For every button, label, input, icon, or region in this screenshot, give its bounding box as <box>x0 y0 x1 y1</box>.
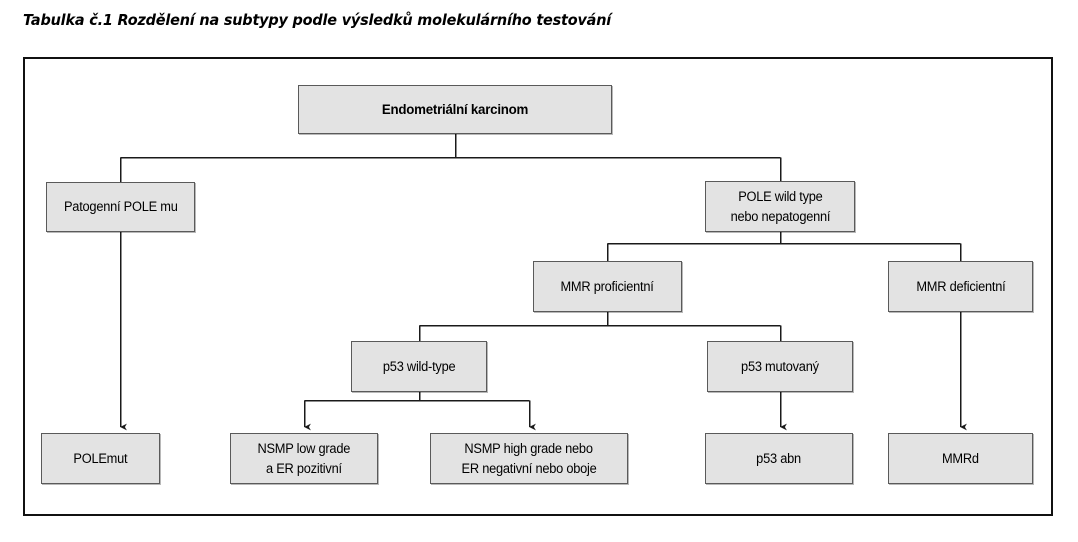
node-label-line2: a ER pozitivní <box>266 459 342 479</box>
figure-caption: Tabulka č.1 Rozdělení na subtypy podle v… <box>23 11 611 29</box>
diagram-page: Tabulka č.1 Rozdělení na subtypy podle v… <box>0 0 1078 542</box>
node-polemut[interactable]: POLEmut <box>41 433 160 484</box>
node-p53-mutovany[interactable]: p53 mutovaný <box>707 341 853 392</box>
node-label-line1: POLE wild type <box>738 187 822 207</box>
node-mmrd[interactable]: MMRd <box>888 433 1033 484</box>
node-mmr-proficientni[interactable]: MMR proficientní <box>533 261 682 312</box>
node-label: Patogenní POLE mu <box>64 197 178 217</box>
node-p53-wild-type[interactable]: p53 wild-type <box>351 341 487 392</box>
node-label: MMR proficientní <box>561 277 654 297</box>
node-label-line1: NSMP high grade nebo <box>465 439 593 459</box>
node-mmr-deficientni[interactable]: MMR deficientní <box>888 261 1033 312</box>
node-label: MMRd <box>942 449 979 469</box>
node-pole-wild-type[interactable]: POLE wild type nebo nepatogenní <box>705 181 855 232</box>
node-label: p53 abn <box>757 449 802 469</box>
node-label-line2: ER negativní nebo oboje <box>461 459 596 479</box>
node-label: Endometriální karcinom <box>382 99 528 119</box>
node-endometrialni-karcinom[interactable]: Endometriální karcinom <box>298 85 612 134</box>
node-label-line2: nebo nepatogenní <box>730 207 830 227</box>
node-label: MMR deficientní <box>916 277 1005 297</box>
node-label-line1: NSMP low grade <box>258 439 351 459</box>
node-nsmp-high-grade[interactable]: NSMP high grade nebo ER negativní nebo o… <box>430 433 628 484</box>
node-label: p53 mutovaný <box>741 357 819 377</box>
node-patogenni-pole-mu[interactable]: Patogenní POLE mu <box>46 182 195 232</box>
node-nsmp-low-grade[interactable]: NSMP low grade a ER pozitivní <box>230 433 378 484</box>
node-label: p53 wild-type <box>383 357 455 377</box>
node-p53-abn[interactable]: p53 abn <box>705 433 853 484</box>
node-label: POLEmut <box>74 449 128 469</box>
